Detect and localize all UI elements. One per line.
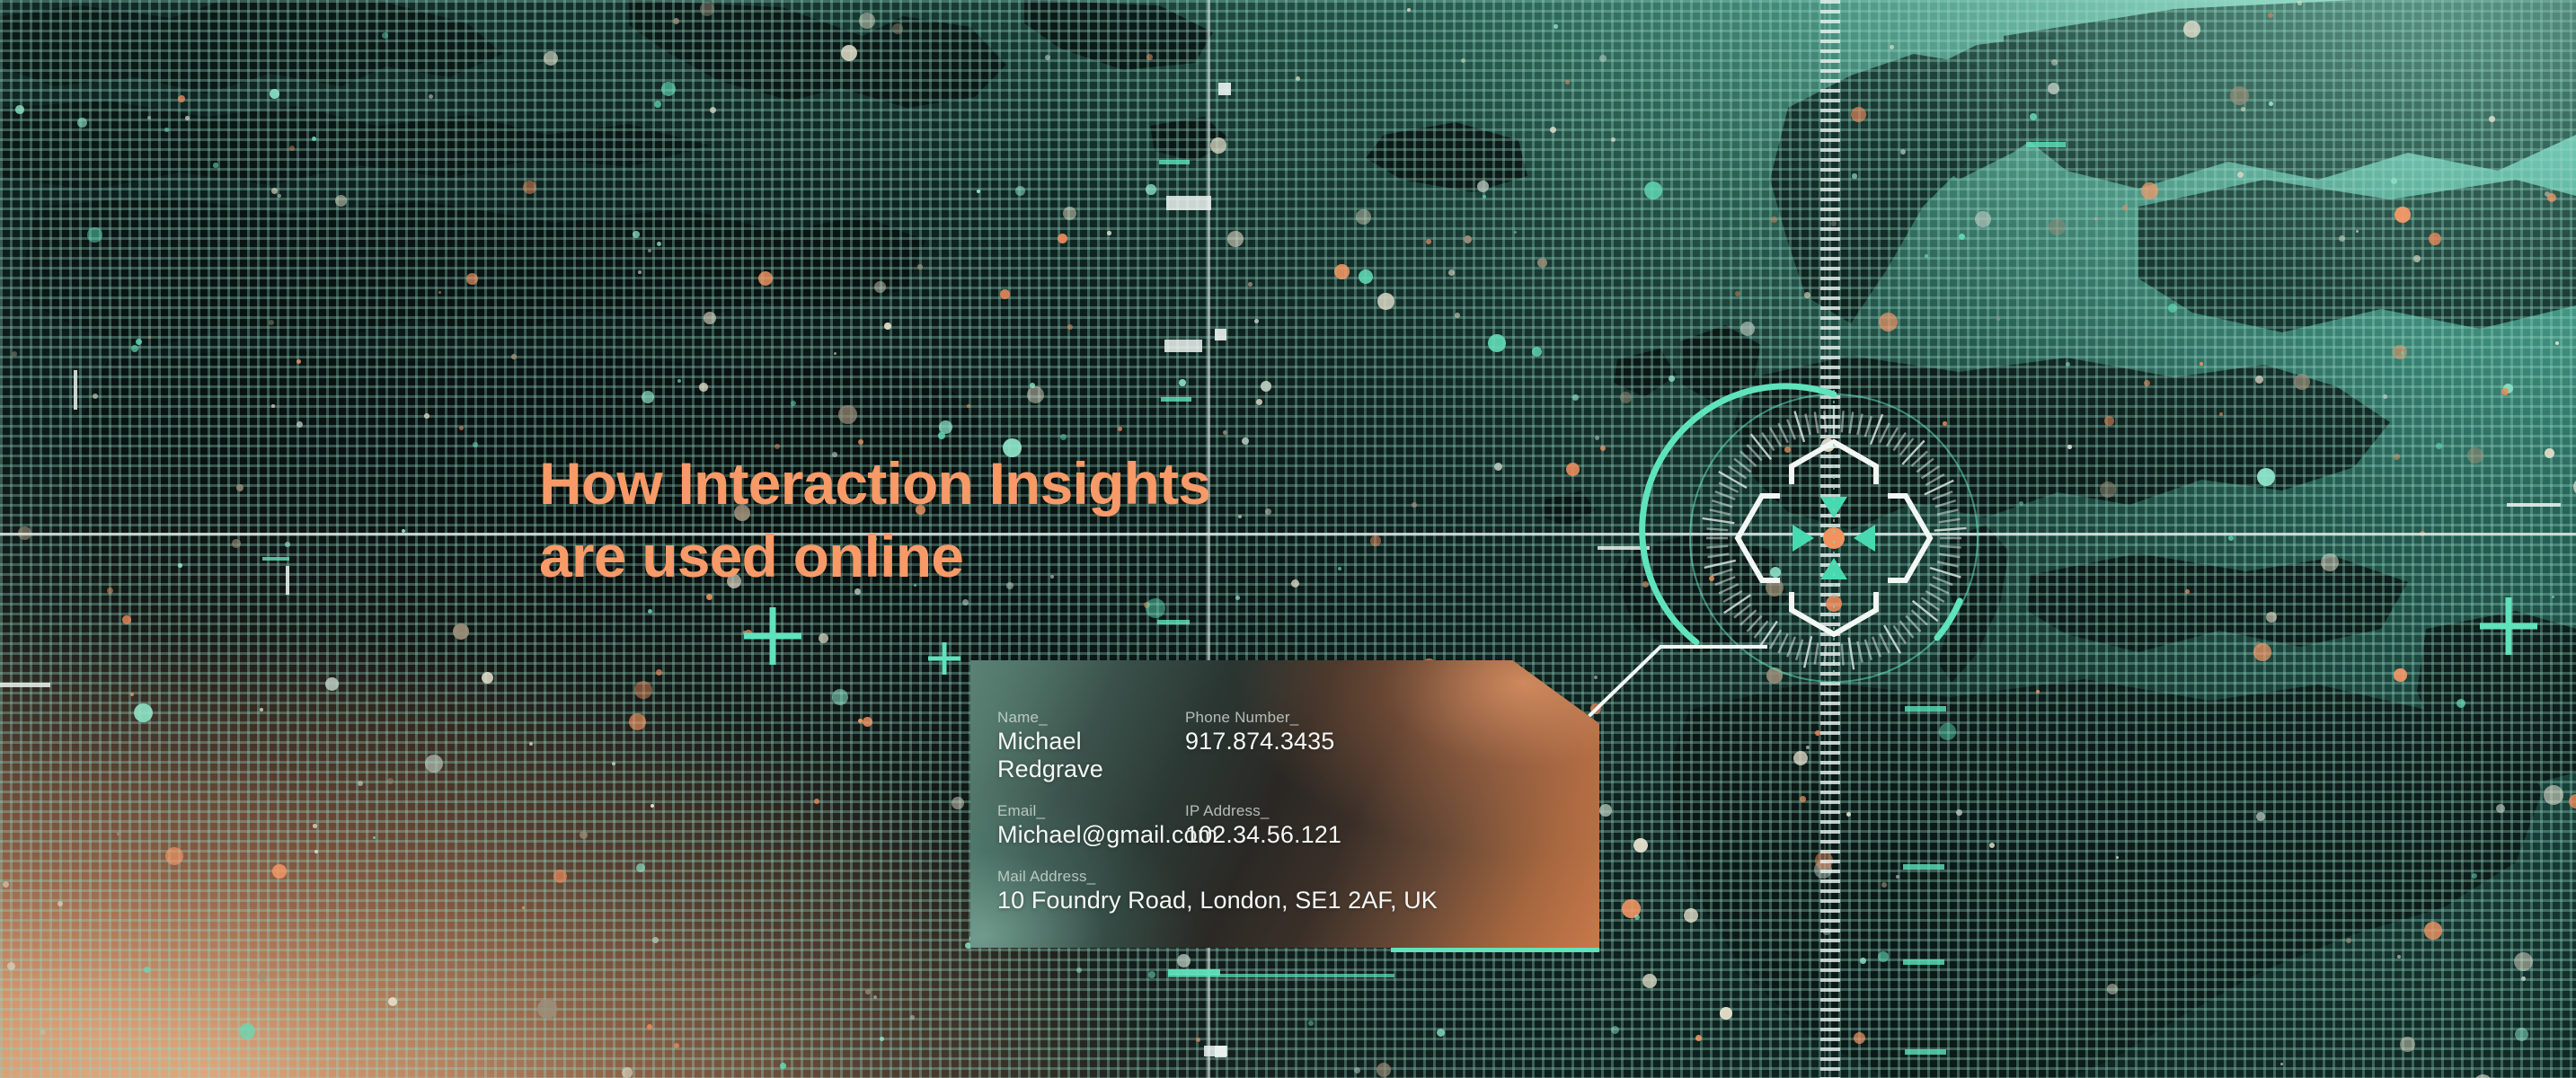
data-point-dot xyxy=(2107,984,2118,994)
data-point-dot xyxy=(2350,68,2353,71)
data-point-dot xyxy=(429,94,433,99)
data-point-dot xyxy=(2122,205,2128,210)
data-point-dot xyxy=(466,273,478,285)
data-point-dot xyxy=(814,799,819,804)
data-point-dot xyxy=(2393,345,2407,359)
data-point-dot xyxy=(165,847,183,865)
card-field-label: Mail Address_ xyxy=(997,868,1599,886)
data-point-dot xyxy=(892,23,903,34)
data-point-dot xyxy=(269,320,274,325)
data-point-dot xyxy=(453,623,469,640)
data-point-dot xyxy=(537,999,557,1019)
data-point-dot xyxy=(2397,955,2401,959)
data-point-dot xyxy=(425,755,443,773)
data-point-dot xyxy=(1377,293,1394,310)
data-point-dot xyxy=(314,850,318,853)
data-point-dot xyxy=(544,51,558,66)
data-point-dot xyxy=(325,677,339,691)
data-point-dot xyxy=(952,797,964,809)
data-point-dot xyxy=(1896,875,1899,879)
data-point-dot xyxy=(1989,843,1995,848)
data-point-dot xyxy=(1900,149,1906,155)
data-point-dot xyxy=(2237,172,2244,178)
data-point-dot xyxy=(1854,1032,1865,1044)
data-point-dot xyxy=(1256,399,1262,405)
card-field-grid: Name_Michael RedgravePhone Number_917.87… xyxy=(970,660,1599,948)
hud-square xyxy=(1215,1046,1226,1057)
data-point-dot xyxy=(1461,58,1465,63)
data-point-dot xyxy=(144,967,150,973)
data-point-dot xyxy=(130,693,134,696)
data-point-dot xyxy=(1595,436,1599,440)
data-point-dot xyxy=(1611,1026,1619,1034)
data-point-dot xyxy=(910,1015,915,1020)
data-point-dot xyxy=(629,713,646,730)
data-point-dot xyxy=(2547,193,2556,202)
data-point-dot xyxy=(2269,102,2273,106)
data-point-dot xyxy=(523,181,536,194)
data-point-dot xyxy=(2474,1074,2492,1078)
data-point-dot xyxy=(2391,178,2397,184)
data-point-dot xyxy=(1622,899,1641,918)
data-point-dot xyxy=(178,563,182,568)
data-point-dot xyxy=(511,354,517,359)
data-point-dot xyxy=(1030,383,1035,388)
data-point-dot xyxy=(1975,211,1991,227)
data-point-dot xyxy=(1146,598,1165,618)
data-point-dot xyxy=(1060,434,1067,440)
data-point-dot xyxy=(136,339,142,345)
data-point-dot xyxy=(1296,76,1300,81)
data-point-dot xyxy=(1144,602,1150,608)
data-point-dot xyxy=(1634,915,1640,920)
data-point-dot xyxy=(1426,239,1431,244)
card-field-label: Name_ xyxy=(997,709,1185,727)
data-point-dot xyxy=(1565,80,1570,84)
card-field-value: 917.874.3435 xyxy=(1185,728,1599,755)
hud-dash xyxy=(1161,397,1191,402)
data-point-dot xyxy=(884,323,891,330)
data-point-dot xyxy=(1800,796,1806,802)
data-point-dot xyxy=(2253,643,2271,661)
data-point-dot xyxy=(791,401,796,406)
data-point-dot xyxy=(482,672,493,684)
card-field-value: Michael Redgrave xyxy=(997,728,1185,783)
data-point-dot xyxy=(1067,324,1073,330)
data-point-dot xyxy=(1599,55,1607,62)
data-point-dot xyxy=(834,352,837,355)
data-point-dot xyxy=(2394,668,2407,682)
data-point-dot xyxy=(1684,908,1698,923)
data-point-dot xyxy=(1771,216,1777,223)
data-point-dot xyxy=(2521,976,2526,981)
crosshair-horizontal-line xyxy=(0,533,2576,535)
data-point-dot xyxy=(2401,351,2404,355)
data-point-dot xyxy=(2294,374,2310,390)
data-point-dot xyxy=(2514,952,2533,971)
data-point-dot xyxy=(12,351,17,357)
data-point-dot xyxy=(699,383,708,392)
data-point-dot xyxy=(459,426,464,430)
hud-square xyxy=(1218,83,1231,95)
data-point-dot xyxy=(2255,376,2263,384)
card-connector-line xyxy=(1559,582,1918,762)
data-point-dot xyxy=(873,995,877,999)
data-point-dot xyxy=(634,681,652,699)
data-point-dot xyxy=(522,906,525,909)
data-point-dot xyxy=(15,105,24,114)
data-point-dot xyxy=(1027,386,1044,403)
data-point-dot xyxy=(2051,59,2058,66)
data-point-dot xyxy=(2036,690,2040,694)
data-point-dot xyxy=(2066,362,2070,367)
data-point-dot xyxy=(2030,113,2037,120)
data-point-dot xyxy=(652,937,659,943)
data-point-dot xyxy=(865,989,871,994)
data-point-dot xyxy=(2413,255,2421,262)
data-point-dot xyxy=(2141,182,2158,199)
data-point-dot xyxy=(938,432,945,439)
data-point-dot xyxy=(236,484,243,491)
card-field-value: 10 Foundry Road, London, SE1 2AF, UK xyxy=(997,887,1599,915)
data-point-dot xyxy=(874,281,886,293)
data-point-dot xyxy=(2400,1037,2415,1052)
data-point-dot xyxy=(134,703,153,722)
data-point-dot xyxy=(2569,794,2576,808)
data-point-dot xyxy=(863,717,872,727)
data-point-dot xyxy=(1248,282,1253,287)
data-point-dot xyxy=(2268,13,2273,18)
data-point-dot xyxy=(638,270,642,274)
data-point-dot xyxy=(1370,535,1381,546)
data-point-dot xyxy=(1620,392,1632,403)
data-point-dot xyxy=(2230,86,2249,105)
data-point-dot xyxy=(1611,137,1616,142)
data-point-dot xyxy=(2436,443,2442,449)
data-point-dot xyxy=(2383,394,2387,399)
data-point-dot xyxy=(2346,938,2351,943)
data-point-dot xyxy=(529,742,533,746)
data-point-dot xyxy=(1890,45,1894,49)
data-point-dot xyxy=(358,781,363,786)
data-point-dot xyxy=(131,345,138,352)
data-point-dot xyxy=(270,89,279,99)
data-point-dot xyxy=(213,163,218,168)
data-point-dot xyxy=(977,190,980,193)
hero-banner: Name_Michael RedgravePhone Number_917.87… xyxy=(0,0,2576,1078)
card-field-value: Michael@gmail.com xyxy=(997,821,1185,849)
data-point-dot xyxy=(258,972,267,981)
data-point-dot xyxy=(1354,1067,1360,1074)
data-point-dot xyxy=(648,249,651,252)
data-point-dot xyxy=(2255,641,2262,648)
data-point-dot xyxy=(272,864,287,879)
data-point-dot xyxy=(673,18,679,24)
data-point-dot xyxy=(239,1023,255,1039)
data-point-dot xyxy=(832,689,848,705)
data-point-dot xyxy=(642,391,654,403)
data-point-dot xyxy=(1878,951,1889,962)
data-point-dot xyxy=(1356,209,1371,225)
data-point-dot xyxy=(1477,181,1489,192)
page-title: How Interaction Insights are used online xyxy=(539,447,1210,592)
data-point-dot xyxy=(2501,388,2509,395)
accent-underline-cap xyxy=(1168,969,1220,976)
data-point-dot xyxy=(1291,579,1299,588)
data-point-dot xyxy=(147,116,151,119)
contact-info-card[interactable]: Name_Michael RedgravePhone Number_917.87… xyxy=(970,660,1599,948)
data-point-dot xyxy=(1514,231,1517,234)
data-point-dot xyxy=(93,393,98,399)
data-point-dot xyxy=(657,242,661,246)
data-point-dot xyxy=(2048,83,2059,94)
data-point-dot xyxy=(2356,230,2359,233)
data-point-dot xyxy=(1308,1021,1314,1026)
data-point-dot xyxy=(2545,448,2554,458)
data-point-dot xyxy=(710,107,716,113)
data-point-dot xyxy=(1494,463,1502,471)
data-point-dot xyxy=(2266,612,2277,623)
data-point-dot xyxy=(819,633,828,643)
data-point-dot xyxy=(122,615,131,624)
data-point-dot xyxy=(2019,501,2023,506)
data-point-dot xyxy=(633,231,640,238)
data-point-dot xyxy=(373,836,376,839)
data-point-dot xyxy=(1925,254,1928,258)
data-point-dot xyxy=(674,1043,679,1048)
data-point-dot xyxy=(648,609,652,614)
data-point-dot xyxy=(780,1063,786,1069)
hud-dash xyxy=(262,557,289,561)
data-point-dot xyxy=(1483,195,1486,199)
data-point-dot xyxy=(2100,482,2116,498)
data-point-dot xyxy=(313,824,317,828)
data-point-dot xyxy=(1146,184,1156,195)
hud-dash xyxy=(2026,142,2066,147)
data-point-dot xyxy=(2256,812,2265,821)
hud-square xyxy=(1215,329,1226,340)
data-point-dot xyxy=(704,312,716,324)
data-point-dot xyxy=(77,118,87,128)
data-point-dot xyxy=(758,271,773,286)
data-point-dot xyxy=(654,101,661,108)
data-point-dot xyxy=(278,194,281,198)
card-field-value: 102.34.56.121 xyxy=(1185,821,1599,849)
data-point-dot xyxy=(553,870,567,883)
data-point-dot xyxy=(2241,107,2245,111)
grid-plus-marker xyxy=(2480,597,2537,655)
data-point-dot xyxy=(580,831,588,839)
data-point-dot xyxy=(1720,1007,1732,1020)
data-point-dot xyxy=(1566,463,1580,476)
data-point-dot xyxy=(1644,181,1662,199)
data-point-dot xyxy=(58,901,63,906)
data-point-dot xyxy=(1735,291,1740,296)
data-point-dot xyxy=(1359,269,1373,284)
data-point-dot xyxy=(1852,173,1857,179)
data-point-dot xyxy=(148,336,151,339)
data-point-dot xyxy=(1146,54,1153,60)
data-point-dot xyxy=(1148,971,1155,978)
data-point-dot xyxy=(232,539,241,548)
data-point-dot xyxy=(260,708,263,711)
data-point-dot xyxy=(164,128,169,132)
data-point-dot xyxy=(2545,191,2550,197)
data-point-dot xyxy=(2116,856,2119,859)
data-point-dot xyxy=(1107,231,1111,235)
data-point-dot xyxy=(2280,1063,2283,1065)
data-point-dot xyxy=(1600,446,1606,451)
data-point-dot xyxy=(1235,596,1240,600)
card-field: Mail Address_10 Foundry Road, London, SE… xyxy=(997,868,1599,915)
data-point-dot xyxy=(1448,269,1455,276)
data-point-dot xyxy=(178,95,185,102)
data-point-dot xyxy=(651,804,654,808)
data-point-dot xyxy=(1851,107,1866,122)
data-point-dot xyxy=(1437,1029,1445,1037)
data-point-dot xyxy=(2503,384,2513,393)
data-point-dot xyxy=(2496,804,2505,813)
data-point-dot xyxy=(285,542,290,547)
data-point-dot xyxy=(2219,412,2223,416)
data-point-dot xyxy=(2067,445,2072,449)
data-point-dot xyxy=(1599,804,1612,817)
data-point-dot xyxy=(1334,264,1350,279)
data-point-dot xyxy=(382,32,388,39)
data-point-dot xyxy=(1265,508,1271,515)
data-point-dot xyxy=(185,116,190,120)
data-point-dot xyxy=(1550,127,1556,133)
data-point-dot xyxy=(388,997,397,1006)
data-point-dot xyxy=(2185,589,2190,594)
data-point-dot xyxy=(1261,381,1271,392)
data-point-dot xyxy=(1254,319,1259,323)
data-point-dot xyxy=(7,962,15,970)
card-field-label: IP Address_ xyxy=(1185,802,1599,820)
data-point-dot xyxy=(2228,535,2234,541)
hud-dash xyxy=(1905,1049,1946,1055)
data-point-dot xyxy=(297,421,303,428)
data-point-dot xyxy=(1642,974,1657,988)
data-point-dot xyxy=(2049,218,2066,235)
data-point-dot xyxy=(335,195,347,207)
data-point-dot xyxy=(1058,234,1067,243)
data-point-dot xyxy=(1572,394,1579,401)
data-point-dot xyxy=(1554,24,1558,29)
hud-dash xyxy=(1159,160,1190,164)
data-point-dot xyxy=(1881,882,1887,888)
data-point-dot xyxy=(1879,313,1898,331)
data-point-dot xyxy=(2424,922,2442,940)
data-point-dot xyxy=(2339,235,2345,242)
data-point-dot xyxy=(1196,1038,1200,1042)
data-point-dot xyxy=(1377,1063,1391,1077)
data-point-dot xyxy=(1210,137,1226,154)
data-point-dot xyxy=(3,881,9,888)
card-field: Name_Michael Redgrave xyxy=(997,709,1185,783)
data-point-dot xyxy=(2168,304,2177,313)
data-point-dot xyxy=(271,404,275,408)
data-point-dot xyxy=(2555,341,2559,345)
hud-dash xyxy=(286,566,289,595)
data-point-dot xyxy=(612,762,615,765)
data-point-dot xyxy=(1939,723,1956,740)
hud-dash xyxy=(1164,340,1202,352)
data-point-dot xyxy=(438,291,441,294)
data-point-dot xyxy=(40,1029,46,1035)
data-point-dot xyxy=(962,599,969,605)
data-point-dot xyxy=(706,594,713,600)
data-point-dot xyxy=(2200,362,2203,366)
data-point-dot xyxy=(661,82,676,96)
grid-plus-marker xyxy=(928,642,960,675)
data-point-dot xyxy=(1412,502,1417,508)
data-point-dot xyxy=(1063,207,1076,220)
hud-dash xyxy=(1903,864,1944,870)
data-point-dot xyxy=(1804,292,1810,298)
data-point-dot xyxy=(289,146,295,151)
data-point-dot xyxy=(1956,809,1962,816)
data-point-dot xyxy=(859,13,875,29)
data-point-dot xyxy=(858,439,863,445)
data-point-dot xyxy=(2515,1028,2528,1041)
data-point-dot xyxy=(1532,347,1542,357)
data-point-dot xyxy=(1000,289,1010,299)
data-point-dot xyxy=(1118,427,1122,431)
data-point-dot xyxy=(2394,454,2400,460)
card-field-label: Phone Number_ xyxy=(1185,709,1599,727)
data-point-dot xyxy=(2472,873,2477,879)
data-point-dot xyxy=(2467,447,2483,464)
data-point-dot xyxy=(1177,954,1191,968)
data-point-dot xyxy=(1740,322,1755,336)
data-point-dot xyxy=(656,669,662,676)
data-point-dot xyxy=(2429,233,2441,245)
data-point-dot xyxy=(2104,416,2114,426)
data-point-dot xyxy=(117,832,120,835)
data-point-dot xyxy=(2552,596,2554,598)
data-point-dot xyxy=(1996,317,2000,321)
data-point-dot xyxy=(312,137,316,141)
data-point-dot xyxy=(1633,838,1648,853)
data-point-dot xyxy=(1464,235,1472,243)
data-point-dot xyxy=(636,863,645,872)
data-point-dot xyxy=(2544,785,2563,805)
data-point-dot xyxy=(473,442,478,447)
data-point-dot xyxy=(677,379,681,383)
data-point-dot xyxy=(841,45,857,61)
card-field: IP Address_102.34.56.121 xyxy=(1185,802,1599,849)
hud-dash xyxy=(74,370,77,410)
data-point-dot xyxy=(967,404,970,408)
data-point-dot xyxy=(2297,1,2302,5)
data-point-dot xyxy=(1227,231,1244,247)
data-point-dot xyxy=(1179,379,1186,386)
data-point-dot xyxy=(2094,217,2097,220)
hud-dash xyxy=(2507,503,2561,507)
data-point-dot xyxy=(1488,334,1506,352)
data-point-dot xyxy=(917,264,923,269)
data-point-dot xyxy=(424,413,429,419)
hud-dash xyxy=(1166,196,1211,210)
data-point-dot xyxy=(1223,430,1227,435)
data-point-dot xyxy=(1455,313,1460,318)
data-point-dot xyxy=(1860,958,1866,964)
data-point-dot xyxy=(87,227,102,243)
data-point-dot xyxy=(880,1037,884,1041)
hud-dash xyxy=(0,683,50,687)
data-point-dot xyxy=(1846,812,1851,817)
